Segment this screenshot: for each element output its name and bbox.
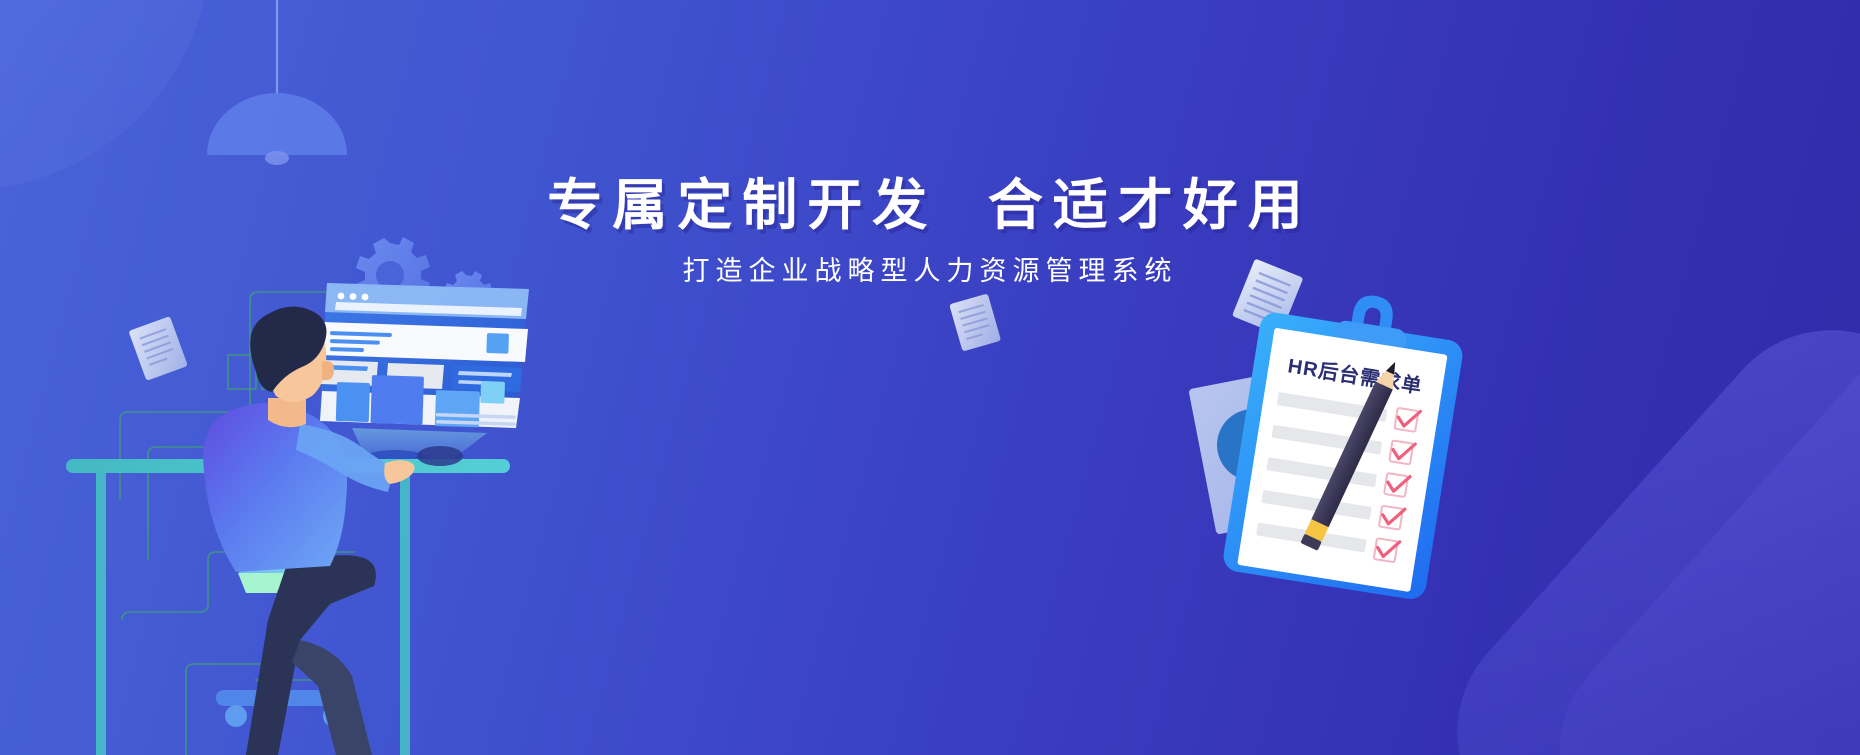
person-arm bbox=[296, 424, 394, 492]
chair-wheel-right bbox=[323, 705, 345, 727]
monitor-card-thumb bbox=[486, 333, 509, 354]
person-shin bbox=[292, 640, 372, 755]
pendant-lamp bbox=[0, 0, 1860, 755]
person-ear bbox=[322, 361, 334, 380]
clipboard-clip bbox=[1333, 319, 1408, 353]
person-face bbox=[266, 322, 326, 402]
window-dots bbox=[338, 293, 369, 301]
person-neck bbox=[268, 398, 306, 427]
clipboard-clip-ring bbox=[1351, 293, 1396, 333]
illustration-hr-clipboard: HR后台需求单 bbox=[0, 0, 1860, 755]
hero-banner: HR后台需求单 bbox=[0, 0, 1860, 755]
desk-leg-left bbox=[96, 473, 106, 755]
decor-circle-top-left bbox=[0, 0, 210, 190]
document-icon-center bbox=[949, 293, 1001, 351]
circuit-lines bbox=[0, 0, 1860, 755]
checklist-checkboxes bbox=[1374, 408, 1419, 562]
pencil-lead bbox=[1386, 360, 1399, 375]
chair-hub bbox=[266, 648, 304, 662]
page-subtitle: 打造企业战略型人力资源管理系统 bbox=[0, 255, 1860, 287]
chair-base bbox=[216, 690, 354, 706]
chair-wheel-left bbox=[225, 705, 247, 727]
monitor-card-primary bbox=[320, 322, 528, 362]
person-legs bbox=[246, 555, 376, 755]
background-decor bbox=[0, 0, 1860, 755]
lamp-shade bbox=[207, 93, 347, 155]
monitor-stand-base bbox=[359, 450, 431, 472]
hero-copy: 专属定制开发 合适才好用 打造企业战略型人力资源管理系统 bbox=[0, 176, 1860, 288]
desk-leg-right bbox=[400, 473, 410, 755]
monitor-card-lines bbox=[330, 331, 392, 352]
pencil-eraser bbox=[1300, 534, 1321, 551]
monitor bbox=[320, 283, 529, 472]
office-chair bbox=[216, 459, 365, 727]
document-icon-left bbox=[128, 316, 187, 381]
lamp-bulb bbox=[265, 151, 289, 165]
desk bbox=[66, 459, 510, 755]
pie-chart bbox=[1217, 409, 1289, 481]
pencil bbox=[1300, 358, 1403, 551]
clipboard-board bbox=[1221, 310, 1464, 601]
decor-rounded-rect-group bbox=[1408, 281, 1860, 755]
clipboard-paper bbox=[1237, 328, 1447, 592]
person-hair bbox=[250, 306, 326, 392]
chair-post bbox=[277, 590, 293, 652]
titlebar-field bbox=[335, 302, 522, 316]
clipboard-title: HR后台需求单 bbox=[1286, 353, 1424, 398]
monitor-body bbox=[320, 283, 529, 428]
chair-seat bbox=[238, 573, 365, 593]
checklist-checkmarks bbox=[1376, 408, 1420, 558]
pencil-tip bbox=[1376, 358, 1404, 390]
pencil-ferrule bbox=[1305, 519, 1329, 542]
monitor-titlebar bbox=[325, 283, 529, 319]
gear-icon-right bbox=[1268, 322, 1324, 381]
illustration-person-at-desk bbox=[0, 0, 1860, 755]
monitor-tiles-row bbox=[321, 360, 522, 392]
person bbox=[203, 306, 414, 755]
page-title: 专属定制开发 合适才好用 bbox=[0, 176, 1860, 235]
monitor-glow bbox=[352, 428, 487, 472]
person-torso bbox=[203, 403, 347, 572]
checklist-rows bbox=[1256, 392, 1387, 552]
report-card bbox=[1188, 361, 1363, 535]
mouse bbox=[417, 446, 463, 466]
person-hand bbox=[384, 460, 414, 484]
chair-back bbox=[229, 459, 328, 575]
clipboard: HR后台需求单 bbox=[1221, 279, 1469, 601]
desk-top bbox=[66, 459, 510, 473]
monitor-blocks bbox=[320, 375, 520, 428]
